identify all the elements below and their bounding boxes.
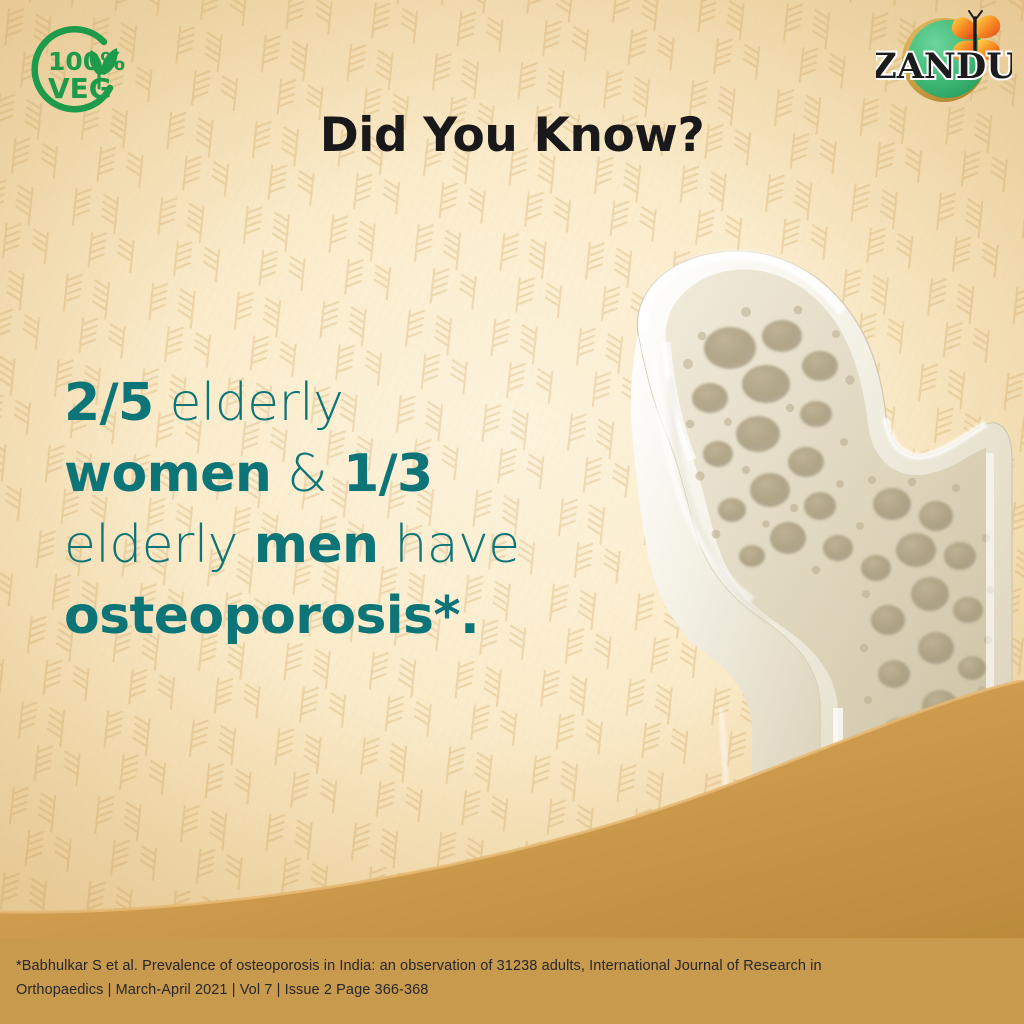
stat-line-1: 2/5 elderly bbox=[64, 368, 584, 439]
footer-citation-band: *Babhulkar S et al. Prevalence of osteop… bbox=[0, 938, 1024, 1024]
veg-label: VEG bbox=[48, 72, 112, 105]
stat-fraction-women: 2/5 bbox=[64, 373, 154, 433]
logo-wordmark: ZANDU bbox=[876, 46, 1012, 87]
stat-fraction-men: 1/3 bbox=[343, 444, 433, 504]
stat-word-women: women bbox=[64, 444, 271, 504]
statistic-text: 2/5 elderly women & 1/3 elderly men have… bbox=[64, 368, 584, 652]
stat-word-have: have bbox=[378, 515, 519, 575]
page-title: Did You Know? bbox=[0, 108, 1024, 163]
gold-curve-decoration bbox=[0, 680, 1024, 980]
stat-line-4: osteoporosis*. bbox=[64, 581, 584, 652]
citation-line-1: *Babhulkar S et al. Prevalence of osteop… bbox=[16, 954, 1006, 978]
creative-canvas: Did You Know? 2/5 elderly women & 1/3 el… bbox=[0, 0, 1024, 1024]
citation-line-2: Orthopaedics | March-April 2021 | Vol 7 … bbox=[16, 978, 1006, 1002]
stat-line-3: elderly men have bbox=[64, 510, 584, 581]
stat-ampersand: & bbox=[271, 444, 343, 504]
zandu-logo[interactable]: ZANDU bbox=[876, 8, 1012, 114]
stat-word-osteoporosis: osteoporosis*. bbox=[64, 586, 479, 646]
veg-badge: 100% VEG bbox=[18, 22, 128, 118]
stat-word-elderly-1: elderly bbox=[154, 373, 344, 433]
stat-word-elderly-2: elderly bbox=[64, 515, 254, 575]
femur-bone-illustration bbox=[520, 238, 1020, 938]
stat-word-men: men bbox=[254, 515, 379, 575]
stat-line-2: women & 1/3 bbox=[64, 439, 584, 510]
